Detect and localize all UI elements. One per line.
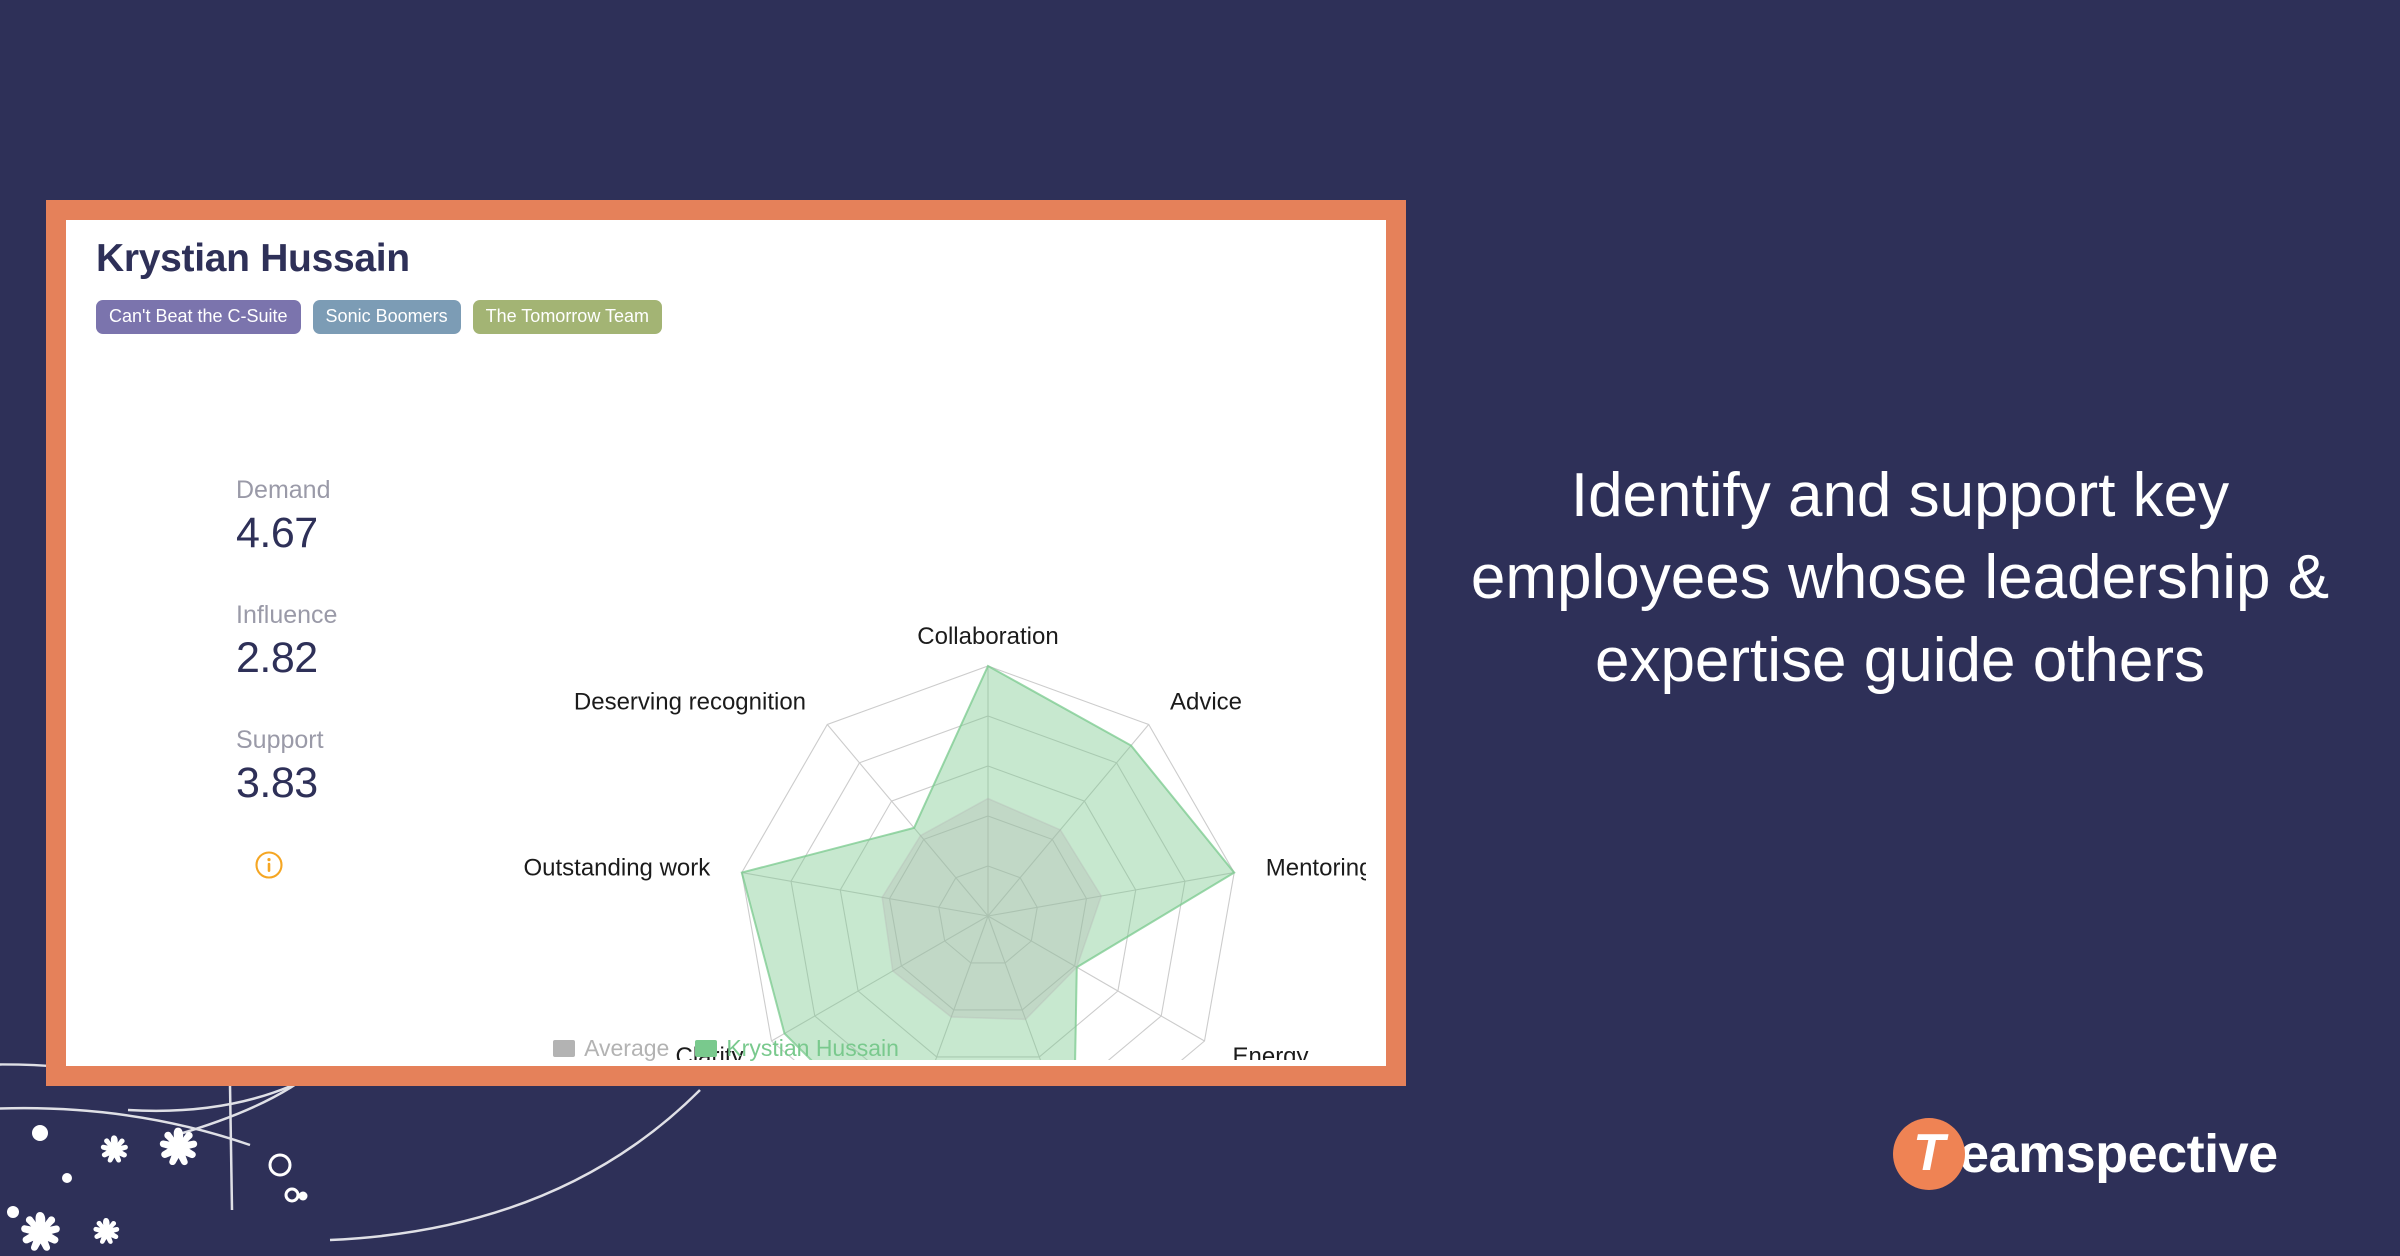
team-tag[interactable]: Sonic Boomers xyxy=(313,300,461,334)
radar-chart: CollaborationAdviceMentoringEnergySuppor… xyxy=(426,400,1366,1060)
team-tag-list: Can't Beat the C-Suite Sonic Boomers The… xyxy=(96,300,662,334)
legend-label: Average xyxy=(584,1037,669,1060)
legend-swatch xyxy=(695,1040,717,1057)
radar-axis-label: Advice xyxy=(1170,689,1242,716)
radar-axis-label: Deserving recognition xyxy=(574,689,806,716)
team-tag[interactable]: The Tomorrow Team xyxy=(473,300,662,334)
legend-label: Krystian Hussain xyxy=(726,1037,899,1060)
chart-legend: Average Krystian Hussain xyxy=(66,1037,1386,1060)
legend-item-average[interactable]: Average xyxy=(553,1037,669,1060)
logo-wordmark: eamspective xyxy=(1959,1127,2278,1181)
page-title: Krystian Hussain xyxy=(96,237,410,281)
legend-swatch xyxy=(553,1040,575,1057)
logo-mark-letter: T xyxy=(1913,1127,1945,1179)
legend-item-person[interactable]: Krystian Hussain xyxy=(695,1037,899,1060)
logo-mark-icon: T xyxy=(1893,1118,1965,1190)
teamspective-logo: T eamspective xyxy=(1893,1118,2278,1190)
radar-axis-label: Collaboration xyxy=(917,623,1058,650)
radar-axis-label: Outstanding work xyxy=(523,854,711,881)
card-inner: Krystian Hussain Can't Beat the C-Suite … xyxy=(66,220,1386,1066)
tagline: Identify and support key employees whose… xyxy=(1470,455,2330,702)
radar-axis-label: Mentoring xyxy=(1266,854,1366,881)
team-tag[interactable]: Can't Beat the C-Suite xyxy=(96,300,301,334)
employee-profile-card: Krystian Hussain Can't Beat the C-Suite … xyxy=(46,200,1406,1086)
